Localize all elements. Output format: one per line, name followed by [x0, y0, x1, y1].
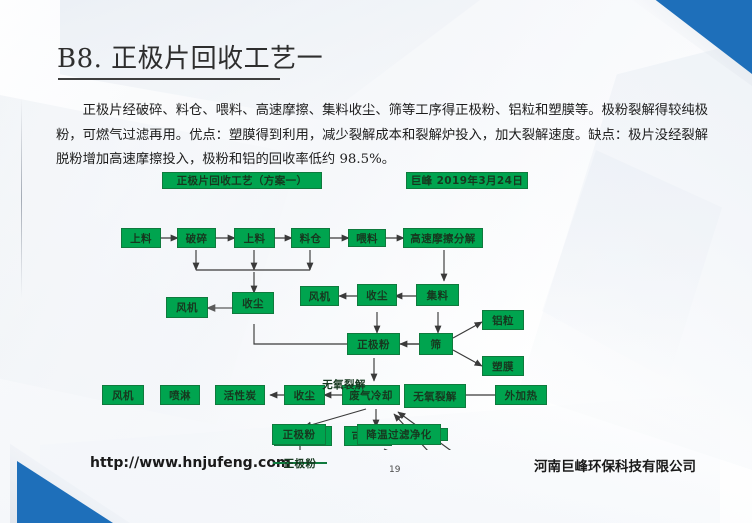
node-spray[interactable]: 喷淋 — [160, 385, 200, 405]
node-sieve[interactable]: 筛 — [419, 333, 453, 355]
node-cooling-filter-purify[interactable]: 降温过滤净化 — [357, 424, 441, 445]
diagram-header-left: 正极片回收工艺（方案一） — [162, 172, 322, 189]
node-dust-bottom[interactable]: 收尘 — [284, 385, 325, 405]
footer-company-name: 河南巨峰环保科技有限公司 — [534, 455, 696, 475]
node-fan-left[interactable]: 风机 — [166, 297, 208, 318]
node-aluminum[interactable]: 铝粒 — [482, 310, 524, 330]
node-collect[interactable]: 集料 — [416, 284, 459, 306]
node-carbon[interactable]: 活性炭 — [215, 385, 265, 405]
node-feed[interactable]: 喂料 — [348, 229, 386, 247]
node-pyrolysis-box[interactable]: 无氧裂解 — [404, 384, 466, 408]
node-fan-mid[interactable]: 风机 — [300, 286, 339, 306]
process-flow-diagram: 正极片回收工艺（方案一） 巨峰 2019年3月24日 上料 破碎 上料 料仓 喂… — [104, 166, 660, 450]
title-underline — [58, 78, 280, 80]
node-fan-bottom[interactable]: 风机 — [102, 385, 144, 405]
body-paragraph: 正极片经破碎、料仓、喂料、高速摩擦、集料收尘、筛等工序得正极粉、铝粒和塑膜等。极… — [56, 99, 708, 173]
node-film[interactable]: 塑膜 — [482, 356, 524, 376]
node-load-1[interactable]: 上料 — [121, 228, 161, 248]
node-crush[interactable]: 破碎 — [177, 228, 216, 248]
node-powder-bottom[interactable]: 正极粉 — [273, 462, 327, 464]
node-silo[interactable]: 料仓 — [291, 228, 330, 248]
node-load-2[interactable]: 上料 — [234, 228, 275, 248]
diagram-header-right: 巨峰 2019年3月24日 — [406, 172, 528, 189]
node-powder-final[interactable]: 正极粉 — [272, 424, 326, 445]
node-dust-mid[interactable]: 收尘 — [357, 284, 397, 306]
footer-page-number: 19 — [389, 465, 400, 475]
left-vertical-rule — [21, 98, 22, 298]
page-title: B8. 正极片回收工艺一 — [57, 44, 323, 74]
slide-canvas: B8. 正极片回收工艺一 正极片经破碎、料仓、喂料、高速摩擦、集料收尘、筛等工序… — [0, 0, 752, 523]
node-dust-left[interactable]: 收尘 — [232, 292, 274, 314]
node-external-heat[interactable]: 外加热 — [495, 385, 547, 405]
footer-url[interactable]: http://www.hnjufeng.com — [90, 455, 291, 471]
node-friction[interactable]: 高速摩擦分解 — [403, 228, 483, 248]
node-powder-mid[interactable]: 正极粉 — [347, 333, 400, 355]
